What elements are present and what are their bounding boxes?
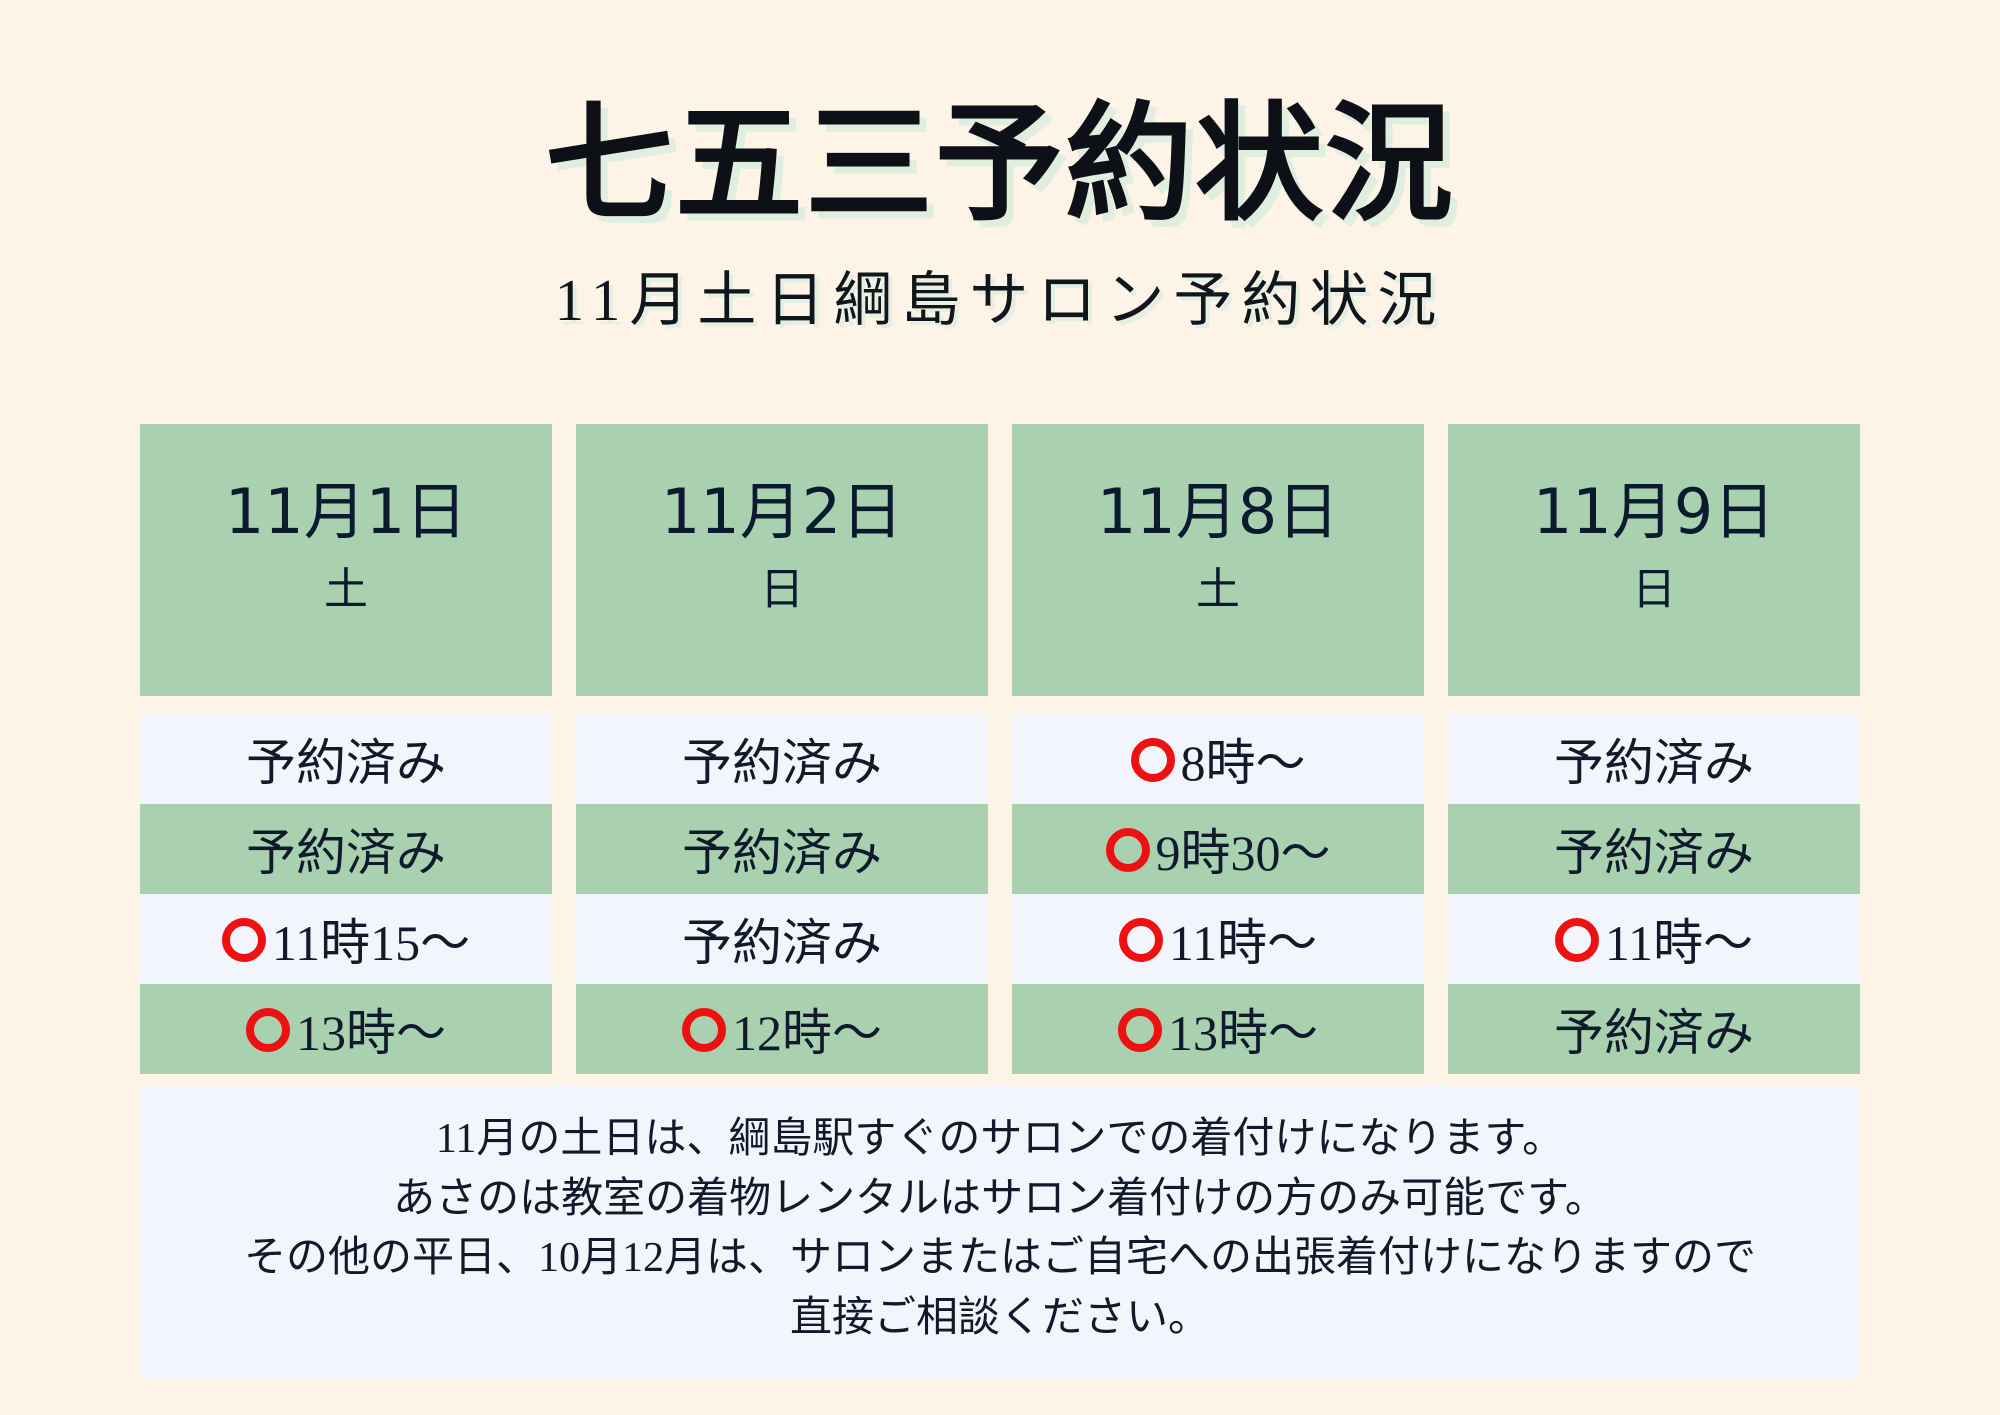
circle-icon (682, 1008, 726, 1052)
page-title: 七五三予約状況 (0, 96, 2000, 234)
date-column-header: 11月2日日 (576, 424, 988, 696)
slot-label: 予約済み (1554, 813, 1754, 885)
circle-icon (1131, 738, 1175, 782)
slot-list: 予約済み予約済み11時〜予約済み (1448, 714, 1860, 1074)
slot-content: 予約済み (682, 903, 882, 975)
slot-label: 9時30〜 (1156, 813, 1331, 885)
slot-content: 11時〜 (1119, 903, 1317, 975)
booked-slot[interactable]: 予約済み (1448, 984, 1860, 1074)
slot-content: 予約済み (246, 813, 446, 885)
slot-label: 11時〜 (1169, 903, 1317, 975)
reservation-status-poster: 七五三予約状況 11月土日綱島サロン予約状況 11月1日土予約済み予約済み11時… (0, 0, 2000, 1415)
circle-icon (1555, 918, 1599, 962)
slot-content: 12時〜 (682, 993, 882, 1065)
slot-list: 8時〜9時30〜11時〜13時〜 (1012, 714, 1424, 1074)
column-day-of-week-label: 土 (324, 568, 368, 612)
note-line: 11月の土日は、綱島駅すぐのサロンでの着付けになります。 (160, 1110, 1840, 1170)
column-day-of-week-label: 日 (760, 568, 804, 612)
slot-label: 8時〜 (1181, 723, 1306, 795)
booked-slot[interactable]: 予約済み (1448, 714, 1860, 804)
slot-label: 12時〜 (732, 993, 882, 1065)
slot-content: 予約済み (682, 723, 882, 795)
available-slot[interactable]: 9時30〜 (1012, 804, 1424, 894)
circle-icon (1106, 828, 1150, 872)
circle-icon (246, 1008, 290, 1052)
available-slot[interactable]: 8時〜 (1012, 714, 1424, 804)
slot-list: 予約済み予約済み予約済み12時〜 (576, 714, 988, 1074)
column-date-label: 11月2日 (661, 478, 903, 546)
slot-label: 11時〜 (1605, 903, 1753, 975)
column-date-label: 11月1日 (225, 478, 467, 546)
available-slot[interactable]: 11時15〜 (140, 894, 552, 984)
note-line: あさのは教室の着物レンタルはサロン着付けの方のみ可能です。 (160, 1170, 1840, 1230)
column-day-of-week-label: 日 (1632, 568, 1676, 612)
date-column: 11月8日土8時〜9時30〜11時〜13時〜 (1012, 424, 1424, 1074)
slot-label: 11時15〜 (272, 903, 470, 975)
slot-label: 予約済み (682, 903, 882, 975)
date-column: 11月2日日予約済み予約済み予約済み12時〜 (576, 424, 988, 1074)
date-column: 11月9日日予約済み予約済み11時〜予約済み (1448, 424, 1860, 1074)
slot-label: 予約済み (682, 723, 882, 795)
slot-label: 13時〜 (296, 993, 446, 1065)
slot-content: 13時〜 (246, 993, 446, 1065)
slot-content: 予約済み (682, 813, 882, 885)
slot-content: 予約済み (1554, 723, 1754, 795)
available-slot[interactable]: 11時〜 (1448, 894, 1860, 984)
slot-content: 9時30〜 (1106, 813, 1331, 885)
booked-slot[interactable]: 予約済み (1448, 804, 1860, 894)
booked-slot[interactable]: 予約済み (140, 714, 552, 804)
slot-label: 予約済み (246, 813, 446, 885)
slot-content: 11時〜 (1555, 903, 1753, 975)
booked-slot[interactable]: 予約済み (576, 894, 988, 984)
column-date-label: 11月9日 (1533, 478, 1775, 546)
column-date-label: 11月8日 (1097, 478, 1339, 546)
slot-content: 予約済み (1554, 993, 1754, 1065)
slot-label: 予約済み (682, 813, 882, 885)
date-column-header: 11月1日土 (140, 424, 552, 696)
available-slot[interactable]: 11時〜 (1012, 894, 1424, 984)
availability-grid: 11月1日土予約済み予約済み11時15〜13時〜11月2日日予約済み予約済み予約… (140, 424, 1860, 1074)
circle-icon (222, 918, 266, 962)
date-column-header: 11月8日土 (1012, 424, 1424, 696)
note-panel: 11月の土日は、綱島駅すぐのサロンでの着付けになります。あさのは教室の着物レンタ… (140, 1086, 1860, 1379)
available-slot[interactable]: 13時〜 (1012, 984, 1424, 1074)
title-area: 七五三予約状況 11月土日綱島サロン予約状況 (0, 96, 2000, 337)
slot-content: 11時15〜 (222, 903, 470, 975)
circle-icon (1118, 1008, 1162, 1052)
slot-content: 予約済み (1554, 813, 1754, 885)
date-column: 11月1日土予約済み予約済み11時15〜13時〜 (140, 424, 552, 1074)
slot-label: 予約済み (1554, 723, 1754, 795)
slot-content: 13時〜 (1118, 993, 1318, 1065)
slot-label: 13時〜 (1168, 993, 1318, 1065)
date-column-header: 11月9日日 (1448, 424, 1860, 696)
note-line: その他の平日、10月12月は、サロンまたはご自宅への出張着付けになりますので (160, 1229, 1840, 1289)
booked-slot[interactable]: 予約済み (576, 804, 988, 894)
circle-icon (1119, 918, 1163, 962)
page-subtitle: 11月土日綱島サロン予約状況 (0, 252, 2000, 337)
slot-content: 予約済み (246, 723, 446, 795)
slot-content: 8時〜 (1131, 723, 1306, 795)
slot-label: 予約済み (1554, 993, 1754, 1065)
note-line: 直接ご相談ください。 (160, 1289, 1840, 1349)
slot-list: 予約済み予約済み11時15〜13時〜 (140, 714, 552, 1074)
available-slot[interactable]: 12時〜 (576, 984, 988, 1074)
booked-slot[interactable]: 予約済み (576, 714, 988, 804)
available-slot[interactable]: 13時〜 (140, 984, 552, 1074)
slot-label: 予約済み (246, 723, 446, 795)
booked-slot[interactable]: 予約済み (140, 804, 552, 894)
column-day-of-week-label: 土 (1196, 568, 1240, 612)
